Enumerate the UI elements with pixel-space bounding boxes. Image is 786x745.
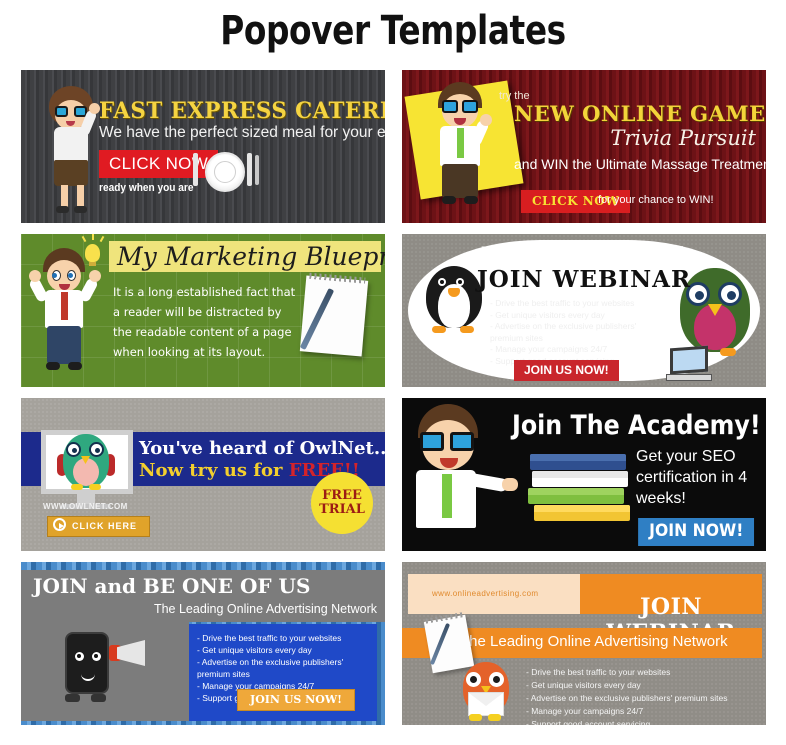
academy-join-now-button[interactable]: JOIN NOW! xyxy=(638,518,754,546)
webinar-gray-bullets: - Drive the best traffic to your website… xyxy=(490,298,660,367)
lightbulb-icon xyxy=(85,244,100,262)
template-owlnet[interactable]: You've heard of OwlNet... Now try us for… xyxy=(21,398,385,551)
teal-owl-character xyxy=(57,434,115,490)
plate-icon xyxy=(205,152,245,192)
owlnet-line1: You've heard of OwlNet... xyxy=(139,438,385,459)
phone-leg xyxy=(91,694,106,702)
bullet-item: - Drive the best traffic to your website… xyxy=(490,298,660,310)
webinar-gray-eyebrow: The Leading Online Advertising Network xyxy=(402,246,766,258)
catering-subline: We have the perfect sized meal for your … xyxy=(99,124,385,142)
trivia-note: for your chance to WIN! xyxy=(598,194,714,206)
blueprint-title: My Marketing Blueprint xyxy=(117,242,385,271)
template-blueprint[interactable]: My Marketing Blueprint It is a long esta… xyxy=(21,234,385,387)
phone-character xyxy=(65,632,109,694)
badge-line2: TRIAL xyxy=(319,502,365,517)
webinar-gray-headline: JOIN WEBINAR xyxy=(402,266,766,293)
trivia-headline: NEW ONLINE GAME xyxy=(514,101,766,126)
notepad-icon xyxy=(300,275,368,356)
trivia-subline: and WIN the Ultimate Massage Treatment xyxy=(514,156,766,172)
lightbulb-ray xyxy=(82,236,87,242)
megaphone-icon xyxy=(109,640,145,666)
academy-headline: Join The Academy! xyxy=(512,410,761,441)
bullet-item: - Support good account servicing xyxy=(526,718,756,725)
template-catering[interactable]: FAST EXPRESS CATERING We have the perfec… xyxy=(21,70,385,223)
envelope-icon xyxy=(468,692,504,716)
lightbulb-ray xyxy=(92,234,94,240)
bullet-item: - Drive the best traffic to your website… xyxy=(526,666,756,679)
bullet-item: - Advertise on the exclusive publishers'… xyxy=(526,692,756,705)
glasses-icon xyxy=(55,106,87,117)
owlnet-line2-prefix: Now try us for xyxy=(139,460,289,481)
owlnet-url: WWW.OWLNET.COM xyxy=(43,502,128,511)
webinar-orange-band-text: The Leading Online Advertising Network xyxy=(460,633,728,650)
bullet-item: - Advertise on the exclusive publishers' xyxy=(197,656,369,668)
laptop-icon xyxy=(666,347,712,381)
orange-headline-box: JOIN WEBINAR xyxy=(580,574,762,614)
catering-click-now-button[interactable]: CLICK NOW xyxy=(99,150,218,178)
free-trial-badge: FREETRIAL xyxy=(311,472,373,534)
knife-secondary-icon xyxy=(255,155,259,185)
play-circle-icon xyxy=(53,518,66,531)
badge-line1: FREE xyxy=(322,488,362,503)
fork-icon xyxy=(193,153,198,186)
template-grid: FAST EXPRESS CATERING We have the perfec… xyxy=(21,70,770,726)
catering-note: ready when you are xyxy=(99,182,194,194)
page-title: Popover Templates xyxy=(71,8,716,54)
bullet-item: - Manage your campaigns 24/7 xyxy=(490,344,660,356)
blueprint-body-text: It is a long established fact that a rea… xyxy=(113,282,298,362)
catering-headline: FAST EXPRESS CATERING xyxy=(99,98,385,124)
academy-subline: Get your SEO certification in 4 weeks! xyxy=(636,446,754,509)
trivia-script-title: Trivia Pursuit xyxy=(610,126,756,150)
lightbulb-ray xyxy=(100,236,105,242)
template-academy[interactable]: Join The Academy! Get your SEO certifica… xyxy=(402,398,766,551)
bullet-item: - Drive the best traffic to your website… xyxy=(197,632,369,644)
template-join-one-of-us[interactable]: JOIN and BE ONE OF US The Leading Online… xyxy=(21,562,385,725)
bullet-item: - Manage your campaigns 24/7 xyxy=(526,705,756,718)
bullet-item: premium sites xyxy=(197,668,369,680)
template-join-webinar-orange[interactable]: www.onlineadvertising.com JOIN WEBINAR T… xyxy=(402,562,766,725)
one-of-us-headline: JOIN and BE ONE OF US xyxy=(33,574,310,598)
books-stack-icon xyxy=(530,454,636,526)
template-trivia[interactable]: try the NEW ONLINE GAME Trivia Pursuit a… xyxy=(402,70,766,223)
orange-owl-character xyxy=(458,662,514,720)
template-join-webinar-gray[interactable]: The Leading Online Advertising Network J… xyxy=(402,234,766,387)
bullet-item: - Advertise on the exclusive publishers' xyxy=(490,321,660,333)
phone-leg xyxy=(65,694,80,702)
bullet-item: - Get unique visitors every day xyxy=(526,679,756,692)
blue-bullets-panel: - Drive the best traffic to your website… xyxy=(189,624,377,721)
webinar-orange-bullets: - Drive the best traffic to your website… xyxy=(526,666,756,725)
bullet-item: premium sites xyxy=(490,333,660,345)
bullet-item: - Get unique visitors every day xyxy=(490,310,660,322)
bullet-item: - Get unique visitors every day xyxy=(197,644,369,656)
one-of-us-subline: The Leading Online Advertising Network xyxy=(154,602,377,616)
webinar-orange-url: www.onlineadvertising.com xyxy=(432,589,539,598)
one-of-us-join-button[interactable]: JOIN US NOW! xyxy=(237,689,355,711)
knife-icon xyxy=(247,153,252,186)
webinar-gray-join-button[interactable]: JOIN US NOW! xyxy=(514,360,619,381)
popover-templates-page: Popover Templates FAST EXPRESS CATERING … xyxy=(0,0,786,745)
